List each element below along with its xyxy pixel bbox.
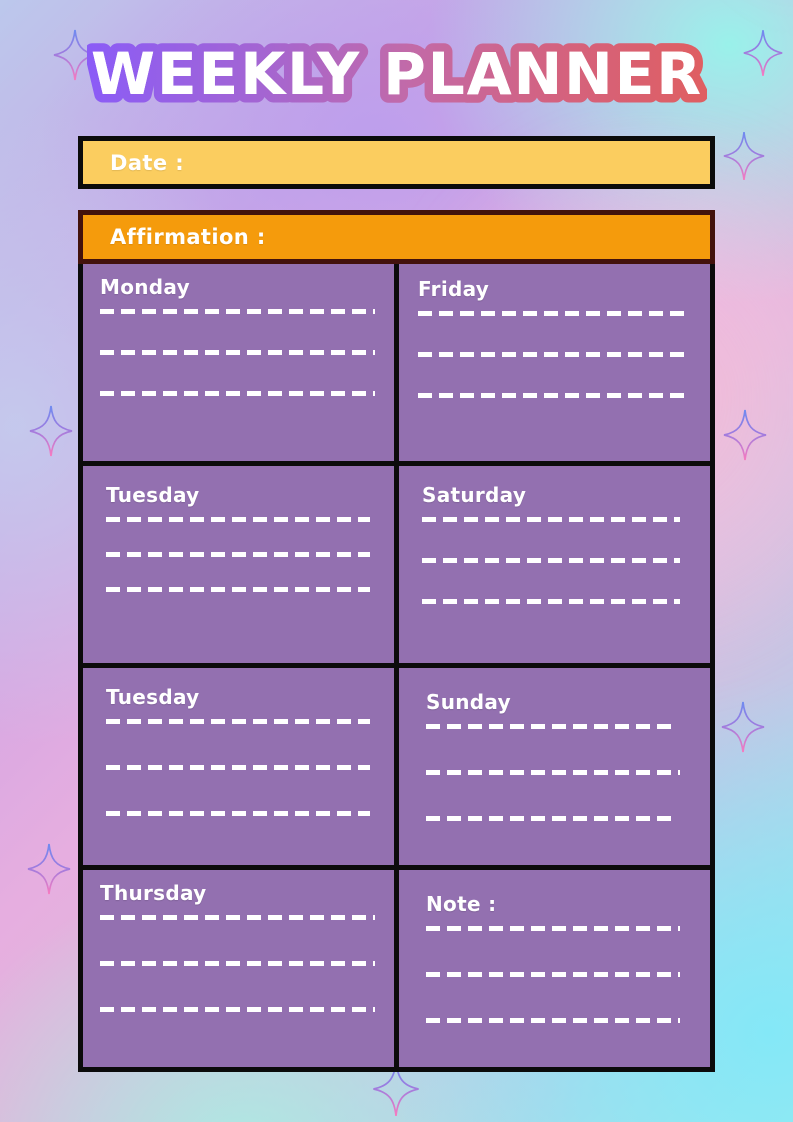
note-cell[interactable]: Note : <box>399 870 710 1067</box>
write-lines[interactable] <box>422 517 691 604</box>
write-line[interactable] <box>418 352 686 357</box>
write-line[interactable] <box>426 1018 680 1023</box>
page-title-svg: WEEKLY PLANNER WEEKLY PLANNER <box>87 36 707 116</box>
sparkle-icon <box>722 130 766 182</box>
sparkle-icon <box>722 408 768 462</box>
day-label-thursday: Thursday <box>100 881 375 905</box>
planner-page: WEEKLY PLANNER WEEKLY PLANNER Date : Aff… <box>0 0 793 1122</box>
planner-card: Date : Affirmation : Monday Friday <box>78 136 715 1072</box>
write-line[interactable] <box>422 558 680 563</box>
write-line[interactable] <box>426 770 680 775</box>
sparkle-icon <box>28 404 74 458</box>
write-line[interactable] <box>426 926 680 931</box>
day-label-tuesday-2: Tuesday <box>106 685 375 709</box>
note-label: Note : <box>426 892 691 916</box>
day-cell-sunday[interactable]: Sunday <box>399 668 710 865</box>
sparkle-icon <box>720 700 766 754</box>
day-label-sunday: Sunday <box>426 690 691 714</box>
affirmation-bar[interactable]: Affirmation : <box>78 210 715 264</box>
write-line[interactable] <box>106 517 370 522</box>
sparkle-icon <box>26 842 72 896</box>
write-line[interactable] <box>418 311 686 316</box>
write-line[interactable] <box>106 587 370 592</box>
write-line[interactable] <box>106 811 370 816</box>
write-line[interactable] <box>100 391 375 396</box>
write-lines[interactable] <box>100 309 375 396</box>
write-line[interactable] <box>100 961 375 966</box>
day-label-friday: Friday <box>418 277 691 301</box>
write-line[interactable] <box>418 393 686 398</box>
write-line[interactable] <box>100 915 375 920</box>
write-lines[interactable] <box>426 926 691 1023</box>
write-lines[interactable] <box>106 517 375 592</box>
svg-text:WEEKLY PLANNER: WEEKLY PLANNER <box>91 40 703 108</box>
write-line[interactable] <box>426 724 675 729</box>
date-label: Date : <box>110 151 184 175</box>
write-lines[interactable] <box>100 915 375 1012</box>
day-label-monday: Monday <box>100 275 375 299</box>
affirmation-label: Affirmation : <box>110 225 266 249</box>
write-line[interactable] <box>100 309 375 314</box>
date-bar[interactable]: Date : <box>78 136 715 189</box>
write-line[interactable] <box>422 517 680 522</box>
write-lines[interactable] <box>418 311 691 398</box>
write-line[interactable] <box>422 599 680 604</box>
day-cell-tuesday-2[interactable]: Tuesday <box>83 668 394 865</box>
write-line[interactable] <box>100 1007 375 1012</box>
day-cell-saturday[interactable]: Saturday <box>399 466 710 663</box>
page-title: WEEKLY PLANNER WEEKLY PLANNER <box>0 36 793 120</box>
write-line[interactable] <box>106 552 370 557</box>
write-lines[interactable] <box>426 724 691 821</box>
day-label-tuesday: Tuesday <box>106 483 375 507</box>
day-cell-tuesday[interactable]: Tuesday <box>83 466 394 663</box>
day-label-saturday: Saturday <box>422 483 691 507</box>
write-lines[interactable] <box>106 719 375 816</box>
write-line[interactable] <box>100 350 375 355</box>
day-cell-thursday[interactable]: Thursday <box>83 870 394 1067</box>
days-grid: Monday Friday Tuesday <box>78 264 715 1072</box>
day-cell-friday[interactable]: Friday <box>399 264 710 461</box>
write-line[interactable] <box>106 765 370 770</box>
write-line[interactable] <box>426 972 680 977</box>
write-line[interactable] <box>426 816 675 821</box>
write-line[interactable] <box>106 719 370 724</box>
day-cell-monday[interactable]: Monday <box>83 264 394 461</box>
